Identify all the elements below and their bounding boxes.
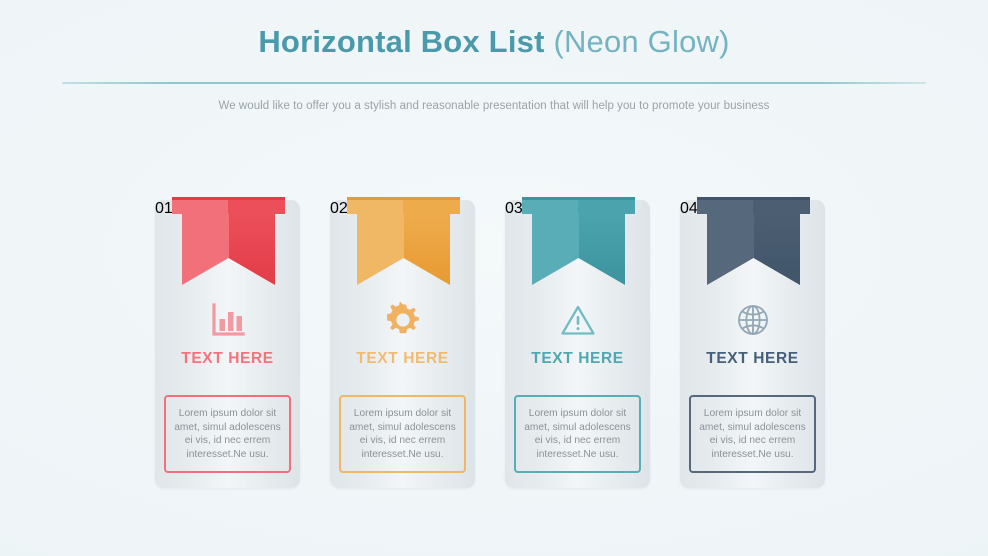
box-card-1[interactable]: 01 TEXT HERE Lorem ipsum dolor sit amet,… — [155, 200, 300, 488]
card-textbox-4: Lorem ipsum dolor sit amet, simul adoles… — [689, 395, 816, 473]
globe-icon — [680, 298, 825, 342]
card-body-text-4: Lorem ipsum dolor sit amet, simul adoles… — [695, 407, 810, 461]
ribbon-topbar-right-4 — [753, 200, 810, 214]
ribbon-topbar-left-2 — [347, 200, 403, 214]
ribbon-body-3 — [532, 214, 625, 285]
box-card-4[interactable]: 04 TEXT HERE Lorem ipsum dolor sit amet,… — [680, 200, 825, 488]
ribbon-topbar-right-2 — [403, 200, 460, 214]
page-title: Horizontal Box List (Neon Glow) — [0, 22, 988, 62]
ribbon-body-left-3 — [532, 214, 579, 285]
ribbon-body-1 — [182, 214, 275, 285]
ribbon-4 — [697, 197, 810, 285]
card-textbox-2: Lorem ipsum dolor sit amet, simul adoles… — [339, 395, 466, 473]
ribbon-topbar-right-3 — [578, 200, 635, 214]
ribbon-2 — [347, 197, 460, 285]
ribbon-3 — [522, 197, 635, 285]
ribbon-body-left-2 — [357, 214, 404, 285]
ribbon-topbar-2 — [347, 197, 460, 214]
card-textbox-1: Lorem ipsum dolor sit amet, simul adoles… — [164, 395, 291, 473]
ribbon-topbar-left-1 — [172, 200, 228, 214]
ribbon-body-right-3 — [579, 214, 626, 285]
gear-icon — [330, 298, 475, 342]
ribbon-body-right-1 — [229, 214, 276, 285]
page-title-bold: Horizontal Box List — [258, 24, 544, 59]
card-body-text-1: Lorem ipsum dolor sit amet, simul adoles… — [170, 407, 285, 461]
ribbon-body-right-4 — [754, 214, 801, 285]
ribbon-body-4 — [707, 214, 800, 285]
ribbon-1 — [172, 197, 285, 285]
ribbon-topbar-left-4 — [697, 200, 753, 214]
box-card-3[interactable]: 03 TEXT HERE Lorem ipsum dolor sit amet,… — [505, 200, 650, 488]
page-subtitle: We would like to offer you a stylish and… — [0, 100, 988, 112]
card-body-text-2: Lorem ipsum dolor sit amet, simul adoles… — [345, 407, 460, 461]
ribbon-topbar-4 — [697, 197, 810, 214]
ribbon-body-right-2 — [404, 214, 451, 285]
card-body-text-3: Lorem ipsum dolor sit amet, simul adoles… — [520, 407, 635, 461]
card-label-1: TEXT HERE — [155, 350, 300, 368]
ribbon-body-left-4 — [707, 214, 754, 285]
page-title-light: (Neon Glow) — [553, 24, 729, 59]
warning-triangle-icon — [505, 298, 650, 342]
card-label-4: TEXT HERE — [680, 350, 825, 368]
card-label-2: TEXT HERE — [330, 350, 475, 368]
title-divider-rule — [62, 82, 926, 84]
box-card-2[interactable]: 02 TEXT HERE Lorem ipsum dolor sit amet,… — [330, 200, 475, 488]
ribbon-topbar-3 — [522, 197, 635, 214]
slide-canvas: Horizontal Box List (Neon Glow) We would… — [0, 0, 988, 556]
card-label-3: TEXT HERE — [505, 350, 650, 368]
card-textbox-3: Lorem ipsum dolor sit amet, simul adoles… — [514, 395, 641, 473]
ribbon-topbar-left-3 — [522, 200, 578, 214]
ribbon-topbar-right-1 — [228, 200, 285, 214]
box-list-row: 01 TEXT HERE Lorem ipsum dolor sit amet,… — [155, 200, 835, 490]
ribbon-body-left-1 — [182, 214, 229, 285]
bar-chart-icon — [155, 298, 300, 342]
ribbon-topbar-1 — [172, 197, 285, 214]
ribbon-body-2 — [357, 214, 450, 285]
